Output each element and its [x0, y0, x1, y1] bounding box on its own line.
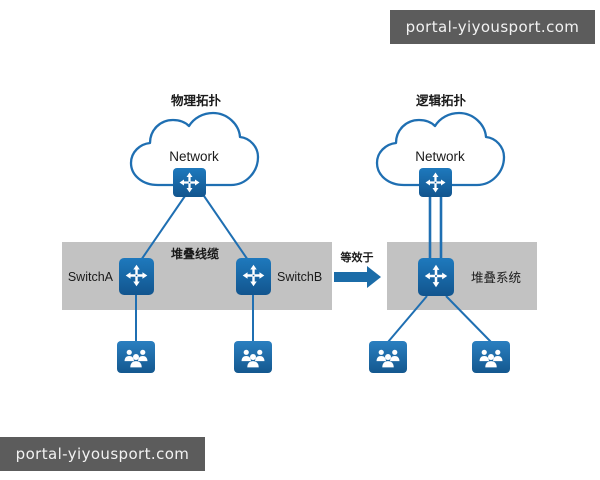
watermark-top: portal-yiyousport.com — [390, 10, 595, 44]
right-arrow-icon — [334, 266, 381, 288]
logical-user-group-a[interactable] — [369, 341, 407, 373]
stack-system-device[interactable] — [418, 258, 454, 296]
physical-cloud-label: Network — [169, 149, 219, 164]
diagram-canvas: Network SwitchA SwitchB 堆叠线缆 — [0, 0, 600, 480]
equivalence-label: 等效于 — [340, 250, 374, 264]
logical-user-group-b[interactable] — [472, 341, 510, 373]
switch-a-device[interactable] — [119, 258, 154, 295]
switch-b-device[interactable] — [236, 258, 271, 295]
logical-panel-title: 逻辑拓扑 — [416, 93, 467, 108]
physical-user-group-b[interactable] — [234, 341, 272, 373]
physical-panel-title: 物理拓扑 — [171, 93, 222, 108]
stack-system-label: 堆叠系统 — [471, 271, 521, 285]
watermark-bottom: portal-yiyousport.com — [0, 437, 205, 471]
logical-cloud-label: Network — [415, 149, 465, 164]
switch-b-label: SwitchB — [277, 270, 322, 284]
physical-user-group-a[interactable] — [117, 341, 155, 373]
network-topology-diagram: Network SwitchA SwitchB 堆叠线缆 — [0, 0, 600, 480]
switch-a-label: SwitchA — [68, 270, 114, 284]
logical-cloud-router[interactable] — [419, 168, 452, 197]
physical-cloud-router[interactable] — [173, 168, 206, 197]
stack-cable-label: 堆叠线缆 — [171, 246, 219, 261]
